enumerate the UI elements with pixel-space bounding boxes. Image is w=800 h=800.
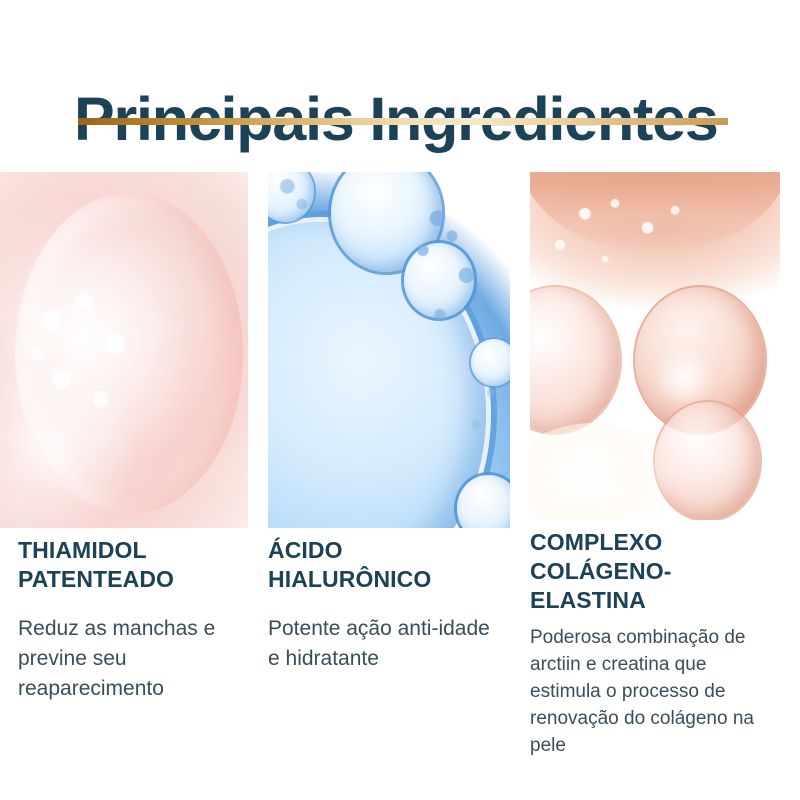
blush-gel-droplet-image — [0, 172, 248, 528]
microbubble-specks — [530, 172, 780, 520]
peach-bubbles-art — [530, 172, 780, 520]
ingredient-name: COMPLEXOCOLÁGENO-ELASTINA — [530, 528, 782, 615]
ingredient-text-complexo-colageno-elastina: COMPLEXOCOLÁGENO-ELASTINA Poderosa combi… — [530, 528, 782, 759]
blue-bubbles-art — [268, 172, 510, 528]
ingredient-name: ÁCIDOHIALURÔNICO — [268, 536, 490, 594]
microbubble-specks — [268, 172, 510, 528]
ingredient-description: Poderosa combinação de arctiin e creatin… — [530, 624, 782, 759]
microbubble-cluster-shape — [20, 272, 159, 436]
peach-gel-bubbles-image — [530, 172, 780, 520]
ingredients-infographic: Principais Ingredientes THIAMIDOLPATENTE… — [0, 0, 800, 800]
ingredient-description: Reduz as manchas e previne seu reapareci… — [18, 614, 250, 704]
ingredient-description: Potente ação anti-idade e hidratante — [268, 614, 490, 674]
ingredient-columns: THIAMIDOLPATENTEADO Reduz as manchas e p… — [0, 0, 800, 800]
ingredient-text-thiamidol: THIAMIDOLPATENTEADO Reduz as manchas e p… — [18, 536, 250, 704]
ingredient-name: THIAMIDOLPATENTEADO — [18, 536, 250, 594]
blush-gel-art — [0, 172, 248, 528]
ingredient-text-acido-hialuronico: ÁCIDOHIALURÔNICO Potente ação anti-idade… — [268, 536, 490, 674]
blue-water-bubbles-image — [268, 172, 510, 528]
